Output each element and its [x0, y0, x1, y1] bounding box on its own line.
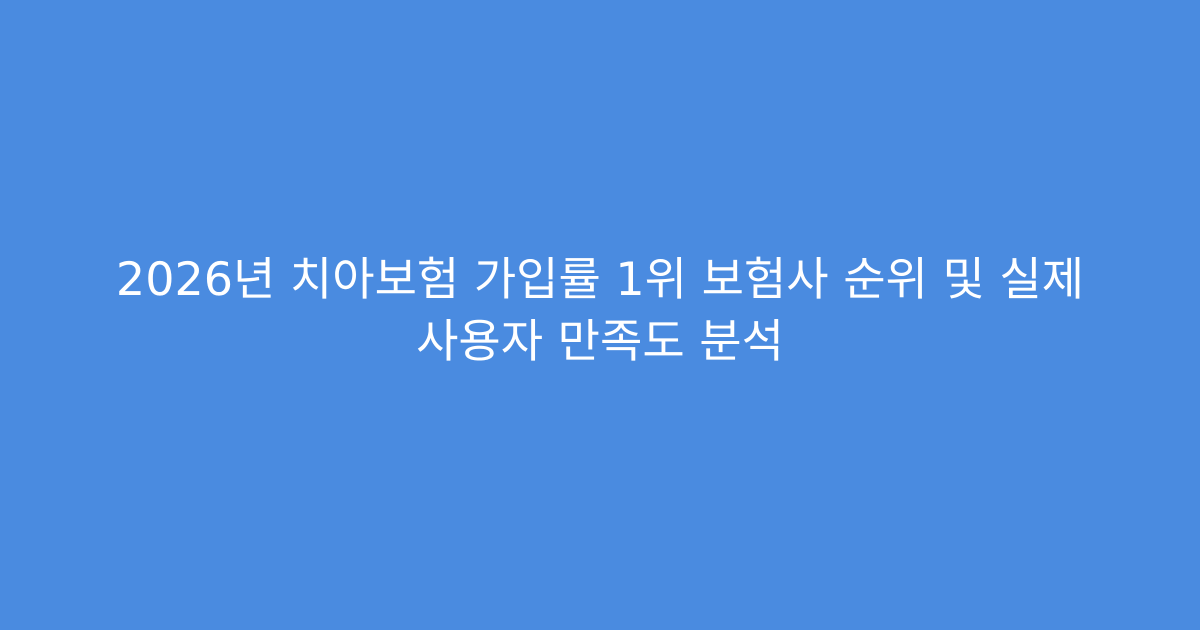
og-share-card: 2026년 치아보험 가입률 1위 보험사 순위 및 실제 사용자 만족도 분석 [0, 0, 1200, 630]
card-content-wrapper: 2026년 치아보험 가입률 1위 보험사 순위 및 실제 사용자 만족도 분석 [50, 248, 1150, 372]
card-title: 2026년 치아보험 가입률 1위 보험사 순위 및 실제 사용자 만족도 분석 [75, 248, 1125, 372]
